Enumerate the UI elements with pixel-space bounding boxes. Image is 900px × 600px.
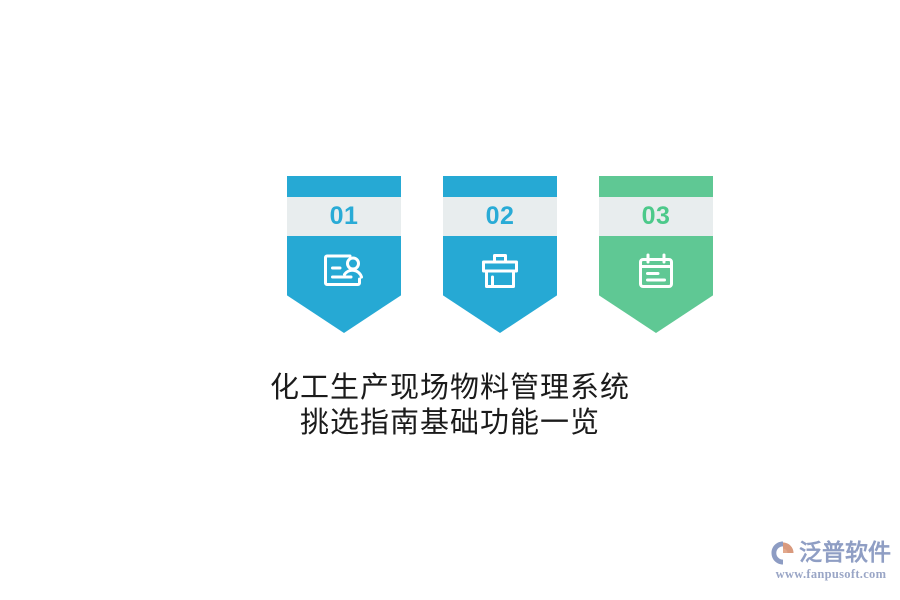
- page-title-line-2: 挑选指南基础功能一览: [0, 406, 900, 441]
- brand-watermark: 泛普软件 www.fanpusoft.com: [770, 538, 892, 586]
- brand-name: 泛普软件: [799, 540, 891, 566]
- fanpu-logo-mark-icon: [770, 540, 796, 566]
- banner-number-band-02: 02: [443, 197, 557, 236]
- banner-number-label-02: 02: [486, 204, 515, 229]
- brand-row: 泛普软件: [770, 538, 892, 568]
- slide-canvas: 01 02: [0, 0, 900, 600]
- brand-url: www.fanpusoft.com: [770, 567, 892, 582]
- banner-group: 01 02: [287, 176, 713, 334]
- calendar-list-icon: [599, 244, 713, 298]
- banner-number-label-01: 01: [330, 204, 359, 229]
- banner-item-03[interactable]: 03: [599, 176, 713, 333]
- id-card-person-icon: [287, 244, 401, 298]
- banner-number-band-03: 03: [599, 197, 713, 236]
- banner-number-label-03: 03: [642, 204, 671, 229]
- banner-number-band-01: 01: [287, 197, 401, 236]
- banner-item-01[interactable]: 01: [287, 176, 401, 333]
- page-title: 化工生产现场物料管理系统 挑选指南基础功能一览: [0, 371, 900, 441]
- warehouse-store-icon: [443, 244, 557, 298]
- page-title-line-1: 化工生产现场物料管理系统: [0, 371, 900, 406]
- banner-item-02[interactable]: 02: [443, 176, 557, 333]
